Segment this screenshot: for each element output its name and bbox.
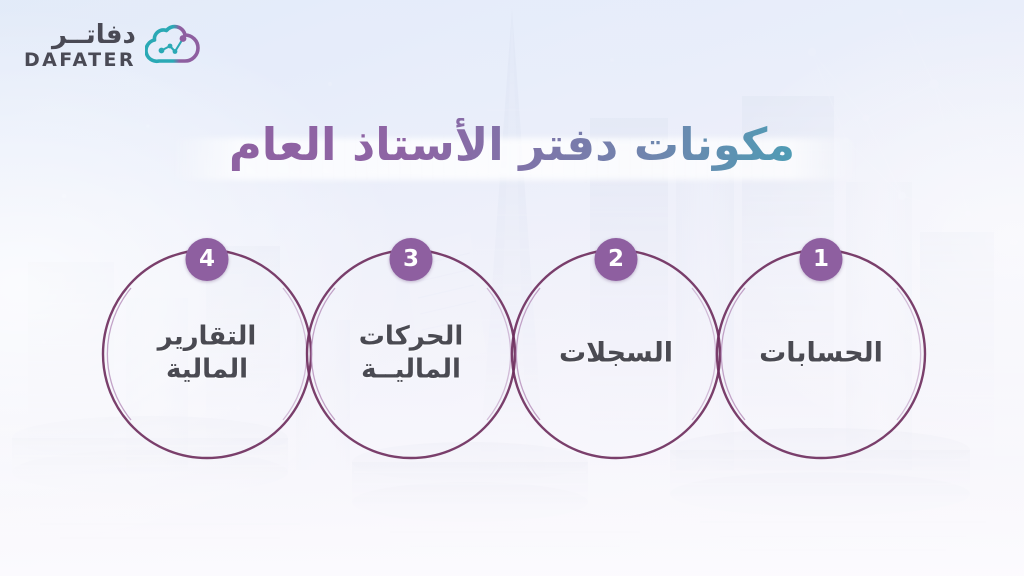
node-label-1-line-1: الحسابات	[737, 337, 905, 372]
diagram-node-2[interactable]: 2 السجلات	[506, 244, 726, 464]
components-diagram: 4 التقارير المالية 3 الحركات الماليــة	[0, 212, 1024, 464]
logo-arabic-text: دفاتــر	[52, 22, 136, 48]
node-label-3-line-2: الماليــة	[327, 354, 495, 387]
cloud-network-icon	[145, 24, 203, 68]
logo-wordmark: دفاتــر DAFATER	[24, 22, 136, 70]
node-label-3-line-1: الحركات	[327, 321, 495, 354]
diagram-node-3[interactable]: 3 الحركات الماليــة	[301, 244, 521, 464]
node-label-2: السجلات	[506, 337, 726, 372]
node-number-badge-2: 2	[595, 238, 638, 281]
node-number-badge-4: 4	[186, 238, 229, 281]
node-label-1: الحسابات	[711, 337, 931, 372]
dafater-logo[interactable]: دفاتــر DAFATER	[24, 22, 203, 70]
diagram-node-4[interactable]: 4 التقارير المالية	[97, 244, 317, 464]
node-label-3: الحركات الماليــة	[301, 321, 521, 388]
page-title: مكونات دفتر الأستاذ العام	[0, 118, 1024, 171]
node-label-4-line-2: المالية	[123, 354, 291, 387]
infographic-canvas: دفاتــر DAFATER	[0, 0, 1024, 576]
node-label-4-line-1: التقارير	[123, 321, 291, 354]
node-label-4: التقارير المالية	[97, 321, 317, 388]
diagram-node-1[interactable]: 1 الحسابات	[711, 244, 931, 464]
node-number-badge-1: 1	[800, 238, 843, 281]
node-number-badge-3: 3	[390, 238, 433, 281]
node-label-2-line-1: السجلات	[532, 337, 700, 372]
logo-latin-text: DAFATER	[24, 51, 136, 70]
